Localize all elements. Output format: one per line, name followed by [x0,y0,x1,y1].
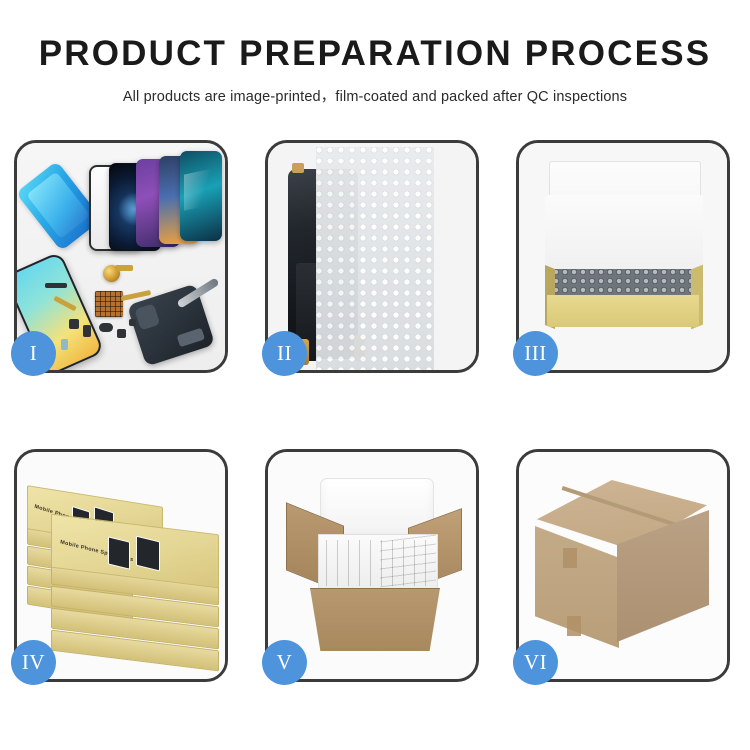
process-step-5: V [265,449,479,682]
tape-piece-graphic [292,163,304,173]
process-step-4: Mobile Phone Spare Parts Mobile Phone Sp… [14,449,228,682]
step-badge-3: III [513,331,558,376]
process-step-3: III [516,140,730,373]
small-part-graphic [99,323,113,332]
step-badge-6: VI [513,640,558,685]
process-step-2: II [265,140,479,373]
packed-boxes-graphic [380,535,436,588]
small-part-graphic [129,319,136,326]
product-preparation-page: PRODUCT PREPARATION PROCESS All products… [0,0,750,750]
step-badge-4: IV [11,640,56,685]
small-part-graphic [83,325,91,337]
phone-teal-graphic [180,151,222,241]
step-badge-5: V [262,640,307,685]
small-part-graphic [61,339,68,350]
box-front-graphic [547,295,699,327]
step-badge-1: I [11,331,56,376]
chip-grid-graphic [95,291,123,317]
step-badge-2: II [262,331,307,376]
small-part-graphic [45,283,67,288]
box-screen-print-graphic [136,536,160,572]
foam-sheet-graphic [545,195,703,273]
small-part-graphic [117,329,126,338]
small-part-graphic [69,319,79,329]
process-step-6: VI [516,449,730,682]
carton-tape-graphic [563,548,577,568]
carton-front-graphic [310,588,440,651]
process-step-1: I [14,140,228,373]
flex-cable-graphic [115,265,133,271]
page-header: PRODUCT PREPARATION PROCESS All products… [0,0,750,106]
box-stack-graphic: Mobile Phone Spare Parts Mobile Phone Sp… [21,476,225,666]
bubble-wrap-bag-graphic [316,147,434,370]
page-subtitle: All products are image-printed，film-coat… [0,85,750,106]
process-steps-grid: I II III [14,140,736,682]
page-title: PRODUCT PREPARATION PROCESS [0,36,750,73]
carton-tape-graphic [567,616,581,636]
box-screen-print-graphic [108,536,130,569]
